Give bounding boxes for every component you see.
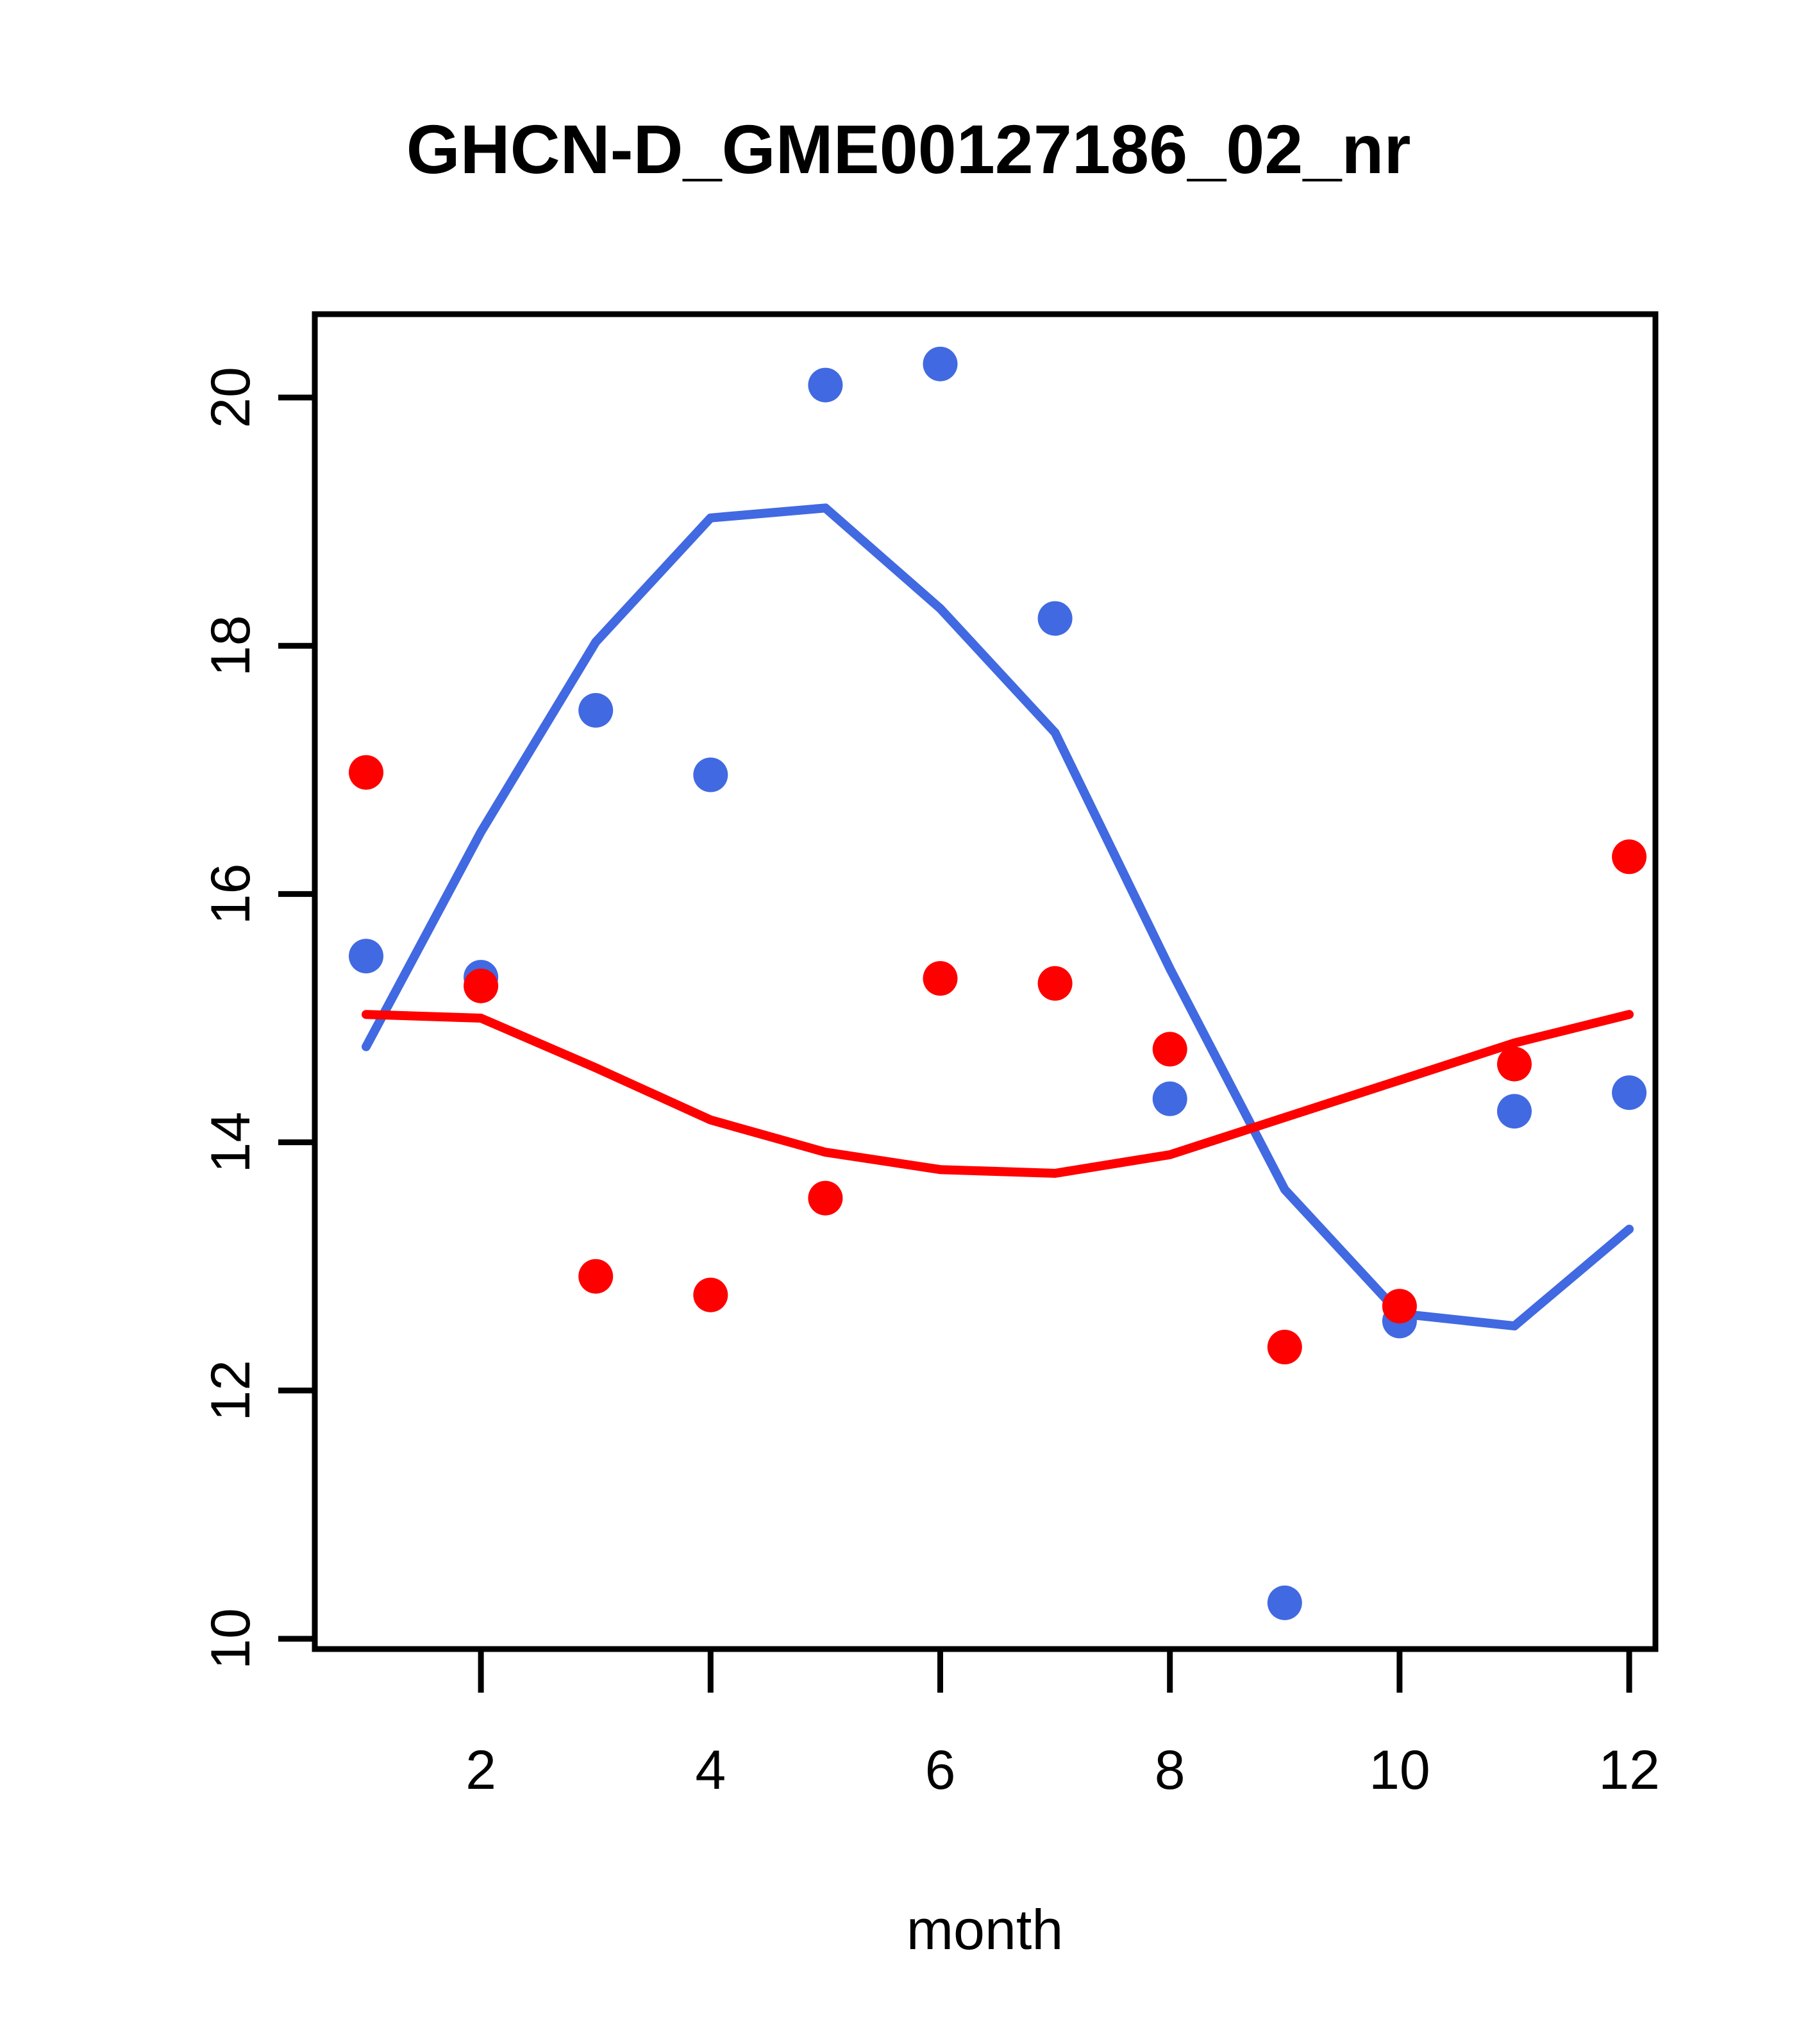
x-axis-tick-labels: 24681012 — [465, 1739, 1660, 1801]
series-line-red-line — [366, 1014, 1629, 1173]
point-series-layer — [349, 347, 1646, 1620]
data-point-blue-points — [349, 939, 383, 973]
chart-page: GHCN-D_GME00127186_02_nr 101214161820 24… — [0, 0, 1817, 2044]
data-point-blue-points — [808, 368, 842, 403]
line-series-layer — [366, 508, 1629, 1326]
data-point-blue-points — [578, 693, 613, 728]
x-tick-label: 12 — [1598, 1739, 1660, 1801]
x-tick-label: 4 — [695, 1739, 726, 1801]
plot-frame — [315, 314, 1655, 1649]
x-tick-label: 2 — [465, 1739, 496, 1801]
data-point-red-points — [808, 1181, 842, 1216]
data-point-red-points — [923, 961, 958, 996]
data-point-red-points — [349, 755, 383, 790]
y-tick-label: 14 — [200, 1112, 262, 1173]
data-point-red-points — [1038, 966, 1073, 1001]
y-tick-label: 12 — [200, 1360, 262, 1421]
y-axis-tick-labels: 101214161820 — [200, 367, 262, 1670]
data-point-red-points — [693, 1278, 728, 1312]
x-tick-label: 6 — [925, 1739, 956, 1801]
y-axis-ticks — [278, 398, 315, 1639]
y-tick-label: 18 — [200, 615, 262, 676]
data-point-red-points — [578, 1259, 613, 1294]
data-point-red-points — [1497, 1047, 1532, 1082]
data-point-red-points — [1268, 1330, 1302, 1364]
y-tick-label: 16 — [200, 864, 262, 925]
data-point-red-points — [1153, 1032, 1187, 1066]
data-point-red-points — [464, 969, 498, 1003]
data-point-blue-points — [923, 347, 958, 381]
x-axis-title: month — [907, 1898, 1064, 1961]
data-point-red-points — [1382, 1289, 1417, 1323]
data-point-blue-points — [1612, 1075, 1646, 1110]
data-point-blue-points — [1153, 1082, 1187, 1116]
y-tick-label: 10 — [200, 1608, 262, 1670]
x-axis-ticks — [481, 1649, 1629, 1693]
y-tick-label: 20 — [200, 367, 262, 428]
data-point-blue-points — [1038, 601, 1073, 636]
data-point-blue-points — [1497, 1094, 1532, 1128]
x-tick-label: 8 — [1155, 1739, 1185, 1801]
plot-canvas: 101214161820 24681012 month — [0, 0, 1817, 2044]
data-point-red-points — [1612, 839, 1646, 874]
series-line-blue-line — [366, 508, 1629, 1326]
data-point-blue-points — [1268, 1586, 1302, 1620]
x-tick-label: 10 — [1369, 1739, 1430, 1801]
data-point-blue-points — [693, 758, 728, 792]
